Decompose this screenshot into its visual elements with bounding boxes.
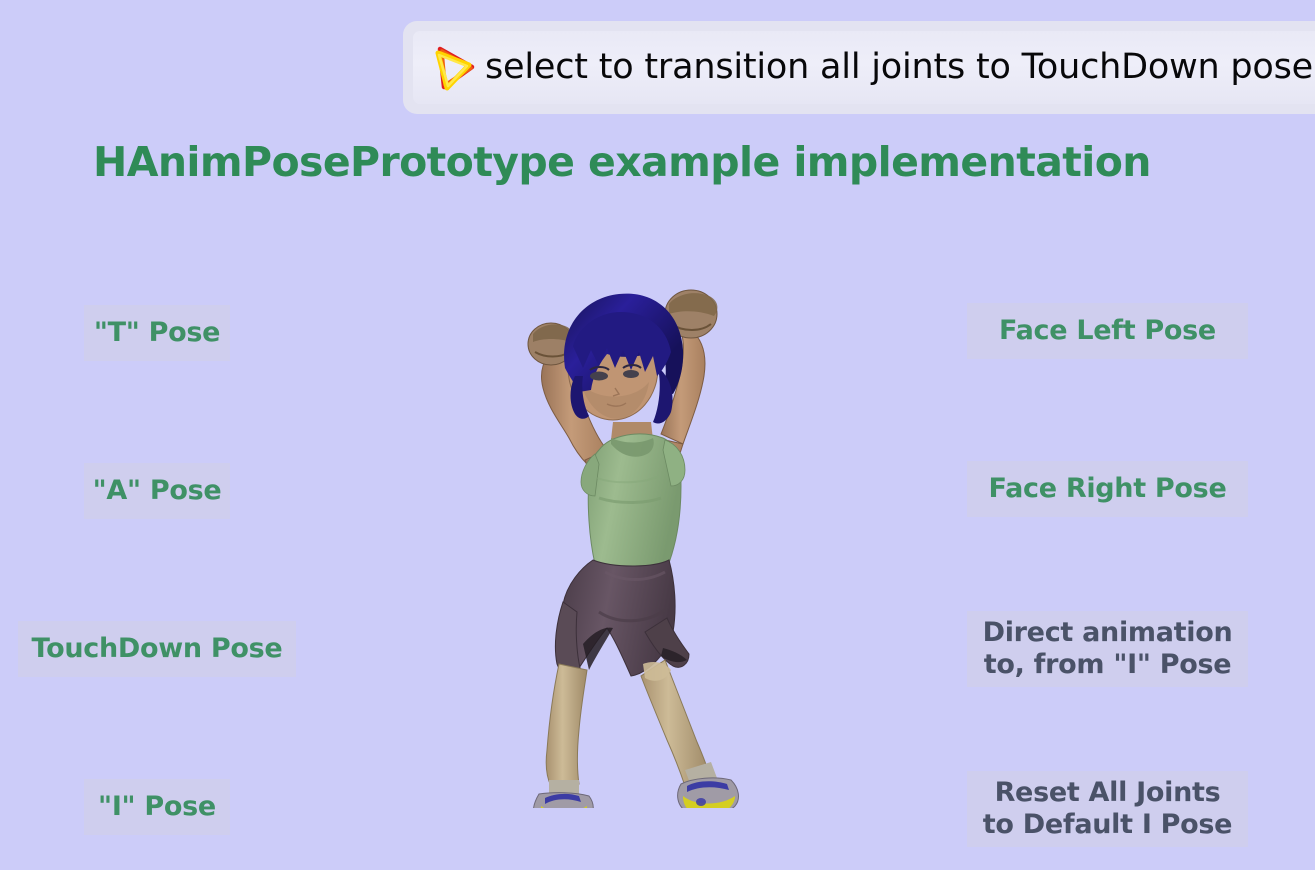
button-label: "A" Pose <box>93 477 222 505</box>
button-i-pose[interactable]: "I" Pose <box>84 779 230 835</box>
button-face-right-pose[interactable]: Face Right Pose <box>967 461 1248 517</box>
button-a-pose[interactable]: "A" Pose <box>84 463 230 519</box>
button-label-line2: to Default I Pose <box>983 809 1232 841</box>
button-label: TouchDown Pose <box>32 635 283 663</box>
button-label: "T" Pose <box>94 319 220 347</box>
x3d-logo-triangle-icon <box>431 45 477 91</box>
status-tooltip-panel: select to transition all joints to Touch… <box>413 31 1315 104</box>
button-label: "I" Pose <box>98 793 216 821</box>
button-face-left-pose[interactable]: Face Left Pose <box>967 303 1248 359</box>
button-label: Face Right Pose <box>989 475 1227 503</box>
application-canvas: HAnimPosePrototype example implementatio… <box>0 0 1315 870</box>
button-direct-animation[interactable]: Direct animation to, from "I" Pose <box>967 611 1248 687</box>
button-label-line2: to, from "I" Pose <box>984 649 1231 681</box>
status-tooltip: select to transition all joints to Touch… <box>403 21 1315 114</box>
button-touchdown-pose[interactable]: TouchDown Pose <box>18 621 296 677</box>
page-title: HAnimPosePrototype example implementatio… <box>93 138 1151 186</box>
avatar-render <box>495 272 767 808</box>
button-label: Face Left Pose <box>999 317 1216 345</box>
hanim-humanoid-avatar[interactable] <box>495 272 767 808</box>
button-reset-all-joints[interactable]: Reset All Joints to Default I Pose <box>967 771 1248 847</box>
button-label-line1: Reset All Joints <box>995 777 1221 809</box>
status-tooltip-text: select to transition all joints to Touch… <box>485 50 1313 85</box>
button-label-line1: Direct animation <box>983 617 1233 649</box>
button-t-pose[interactable]: "T" Pose <box>84 305 230 361</box>
